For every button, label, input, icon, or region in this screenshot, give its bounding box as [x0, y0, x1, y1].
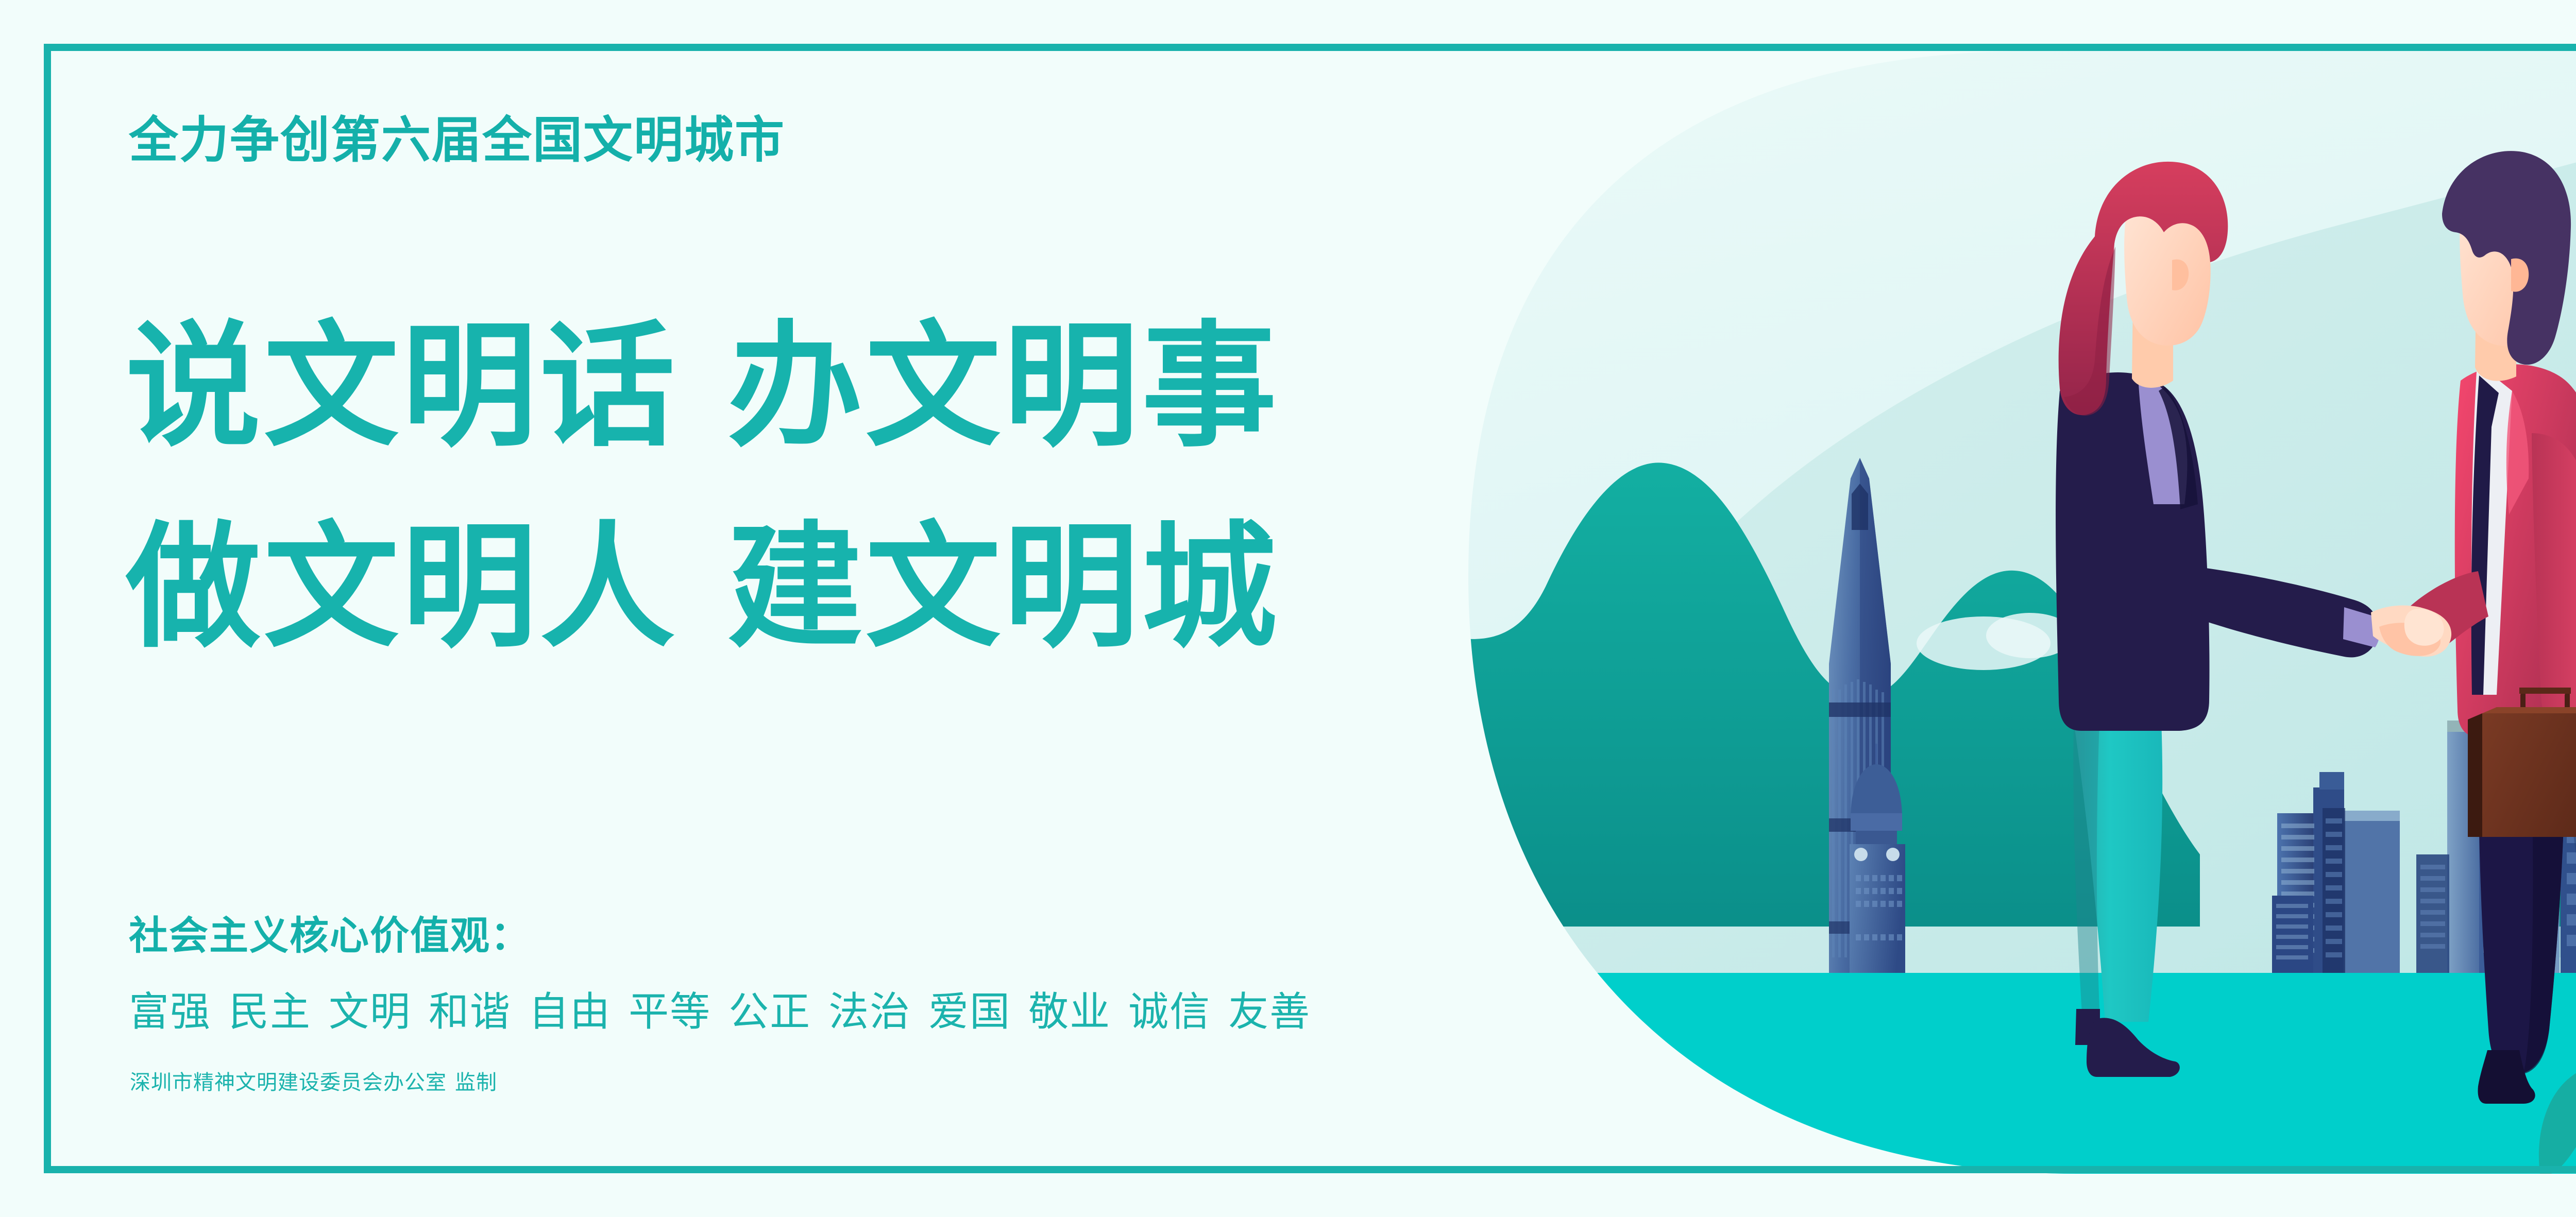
credit-role: 监制 — [455, 1071, 497, 1094]
value-item: 民主 — [229, 989, 311, 1034]
headline-2b: 建文明城 — [727, 509, 1280, 666]
value-item: 公正 — [728, 989, 811, 1034]
headline-line-2: 做文明人建文明城 — [126, 520, 1280, 655]
ground — [1468, 973, 2576, 1217]
headline-line-1: 说文明话办文明事 — [126, 319, 1280, 454]
value-item: 诚信 — [1128, 989, 1211, 1034]
woman-jacket — [2056, 372, 2209, 731]
credit-org: 深圳市精神文明建设委员会办公室 — [130, 1071, 447, 1094]
core-values-list: 富强民主文明和谐自由平等公正法治爱国敬业诚信友善 — [129, 991, 1311, 1032]
value-item: 法治 — [828, 989, 911, 1034]
poster-canvas: 全力争创第六届全国文明城市 说文明话办文明事 做文明人建文明城 社会主义核心价值… — [0, 0, 2576, 1217]
headline-1b: 办文明事 — [727, 308, 1280, 465]
headline-1a: 说文明话 — [126, 308, 678, 465]
headline-2a: 做文明人 — [126, 509, 678, 666]
value-item: 文明 — [329, 989, 411, 1034]
handshake-city-illustration — [1468, 51, 2576, 1217]
text-column: 全力争创第六届全国文明城市 说文明话办文明事 做文明人建文明城 社会主义核心价值… — [129, 0, 1623, 1217]
value-item: 和谐 — [429, 989, 511, 1034]
value-item: 爱国 — [928, 989, 1011, 1034]
value-item: 友善 — [1228, 989, 1311, 1034]
core-values-title: 社会主义核心价值观： — [129, 917, 531, 956]
value-item: 平等 — [629, 989, 711, 1034]
credit-line: 深圳市精神文明建设委员会办公室监制 — [130, 1072, 497, 1093]
value-item: 富强 — [129, 989, 211, 1034]
value-item: 自由 — [529, 989, 611, 1034]
kicker-slogan: 全力争创第六届全国文明城市 — [129, 116, 785, 165]
value-item: 敬业 — [1028, 989, 1111, 1034]
